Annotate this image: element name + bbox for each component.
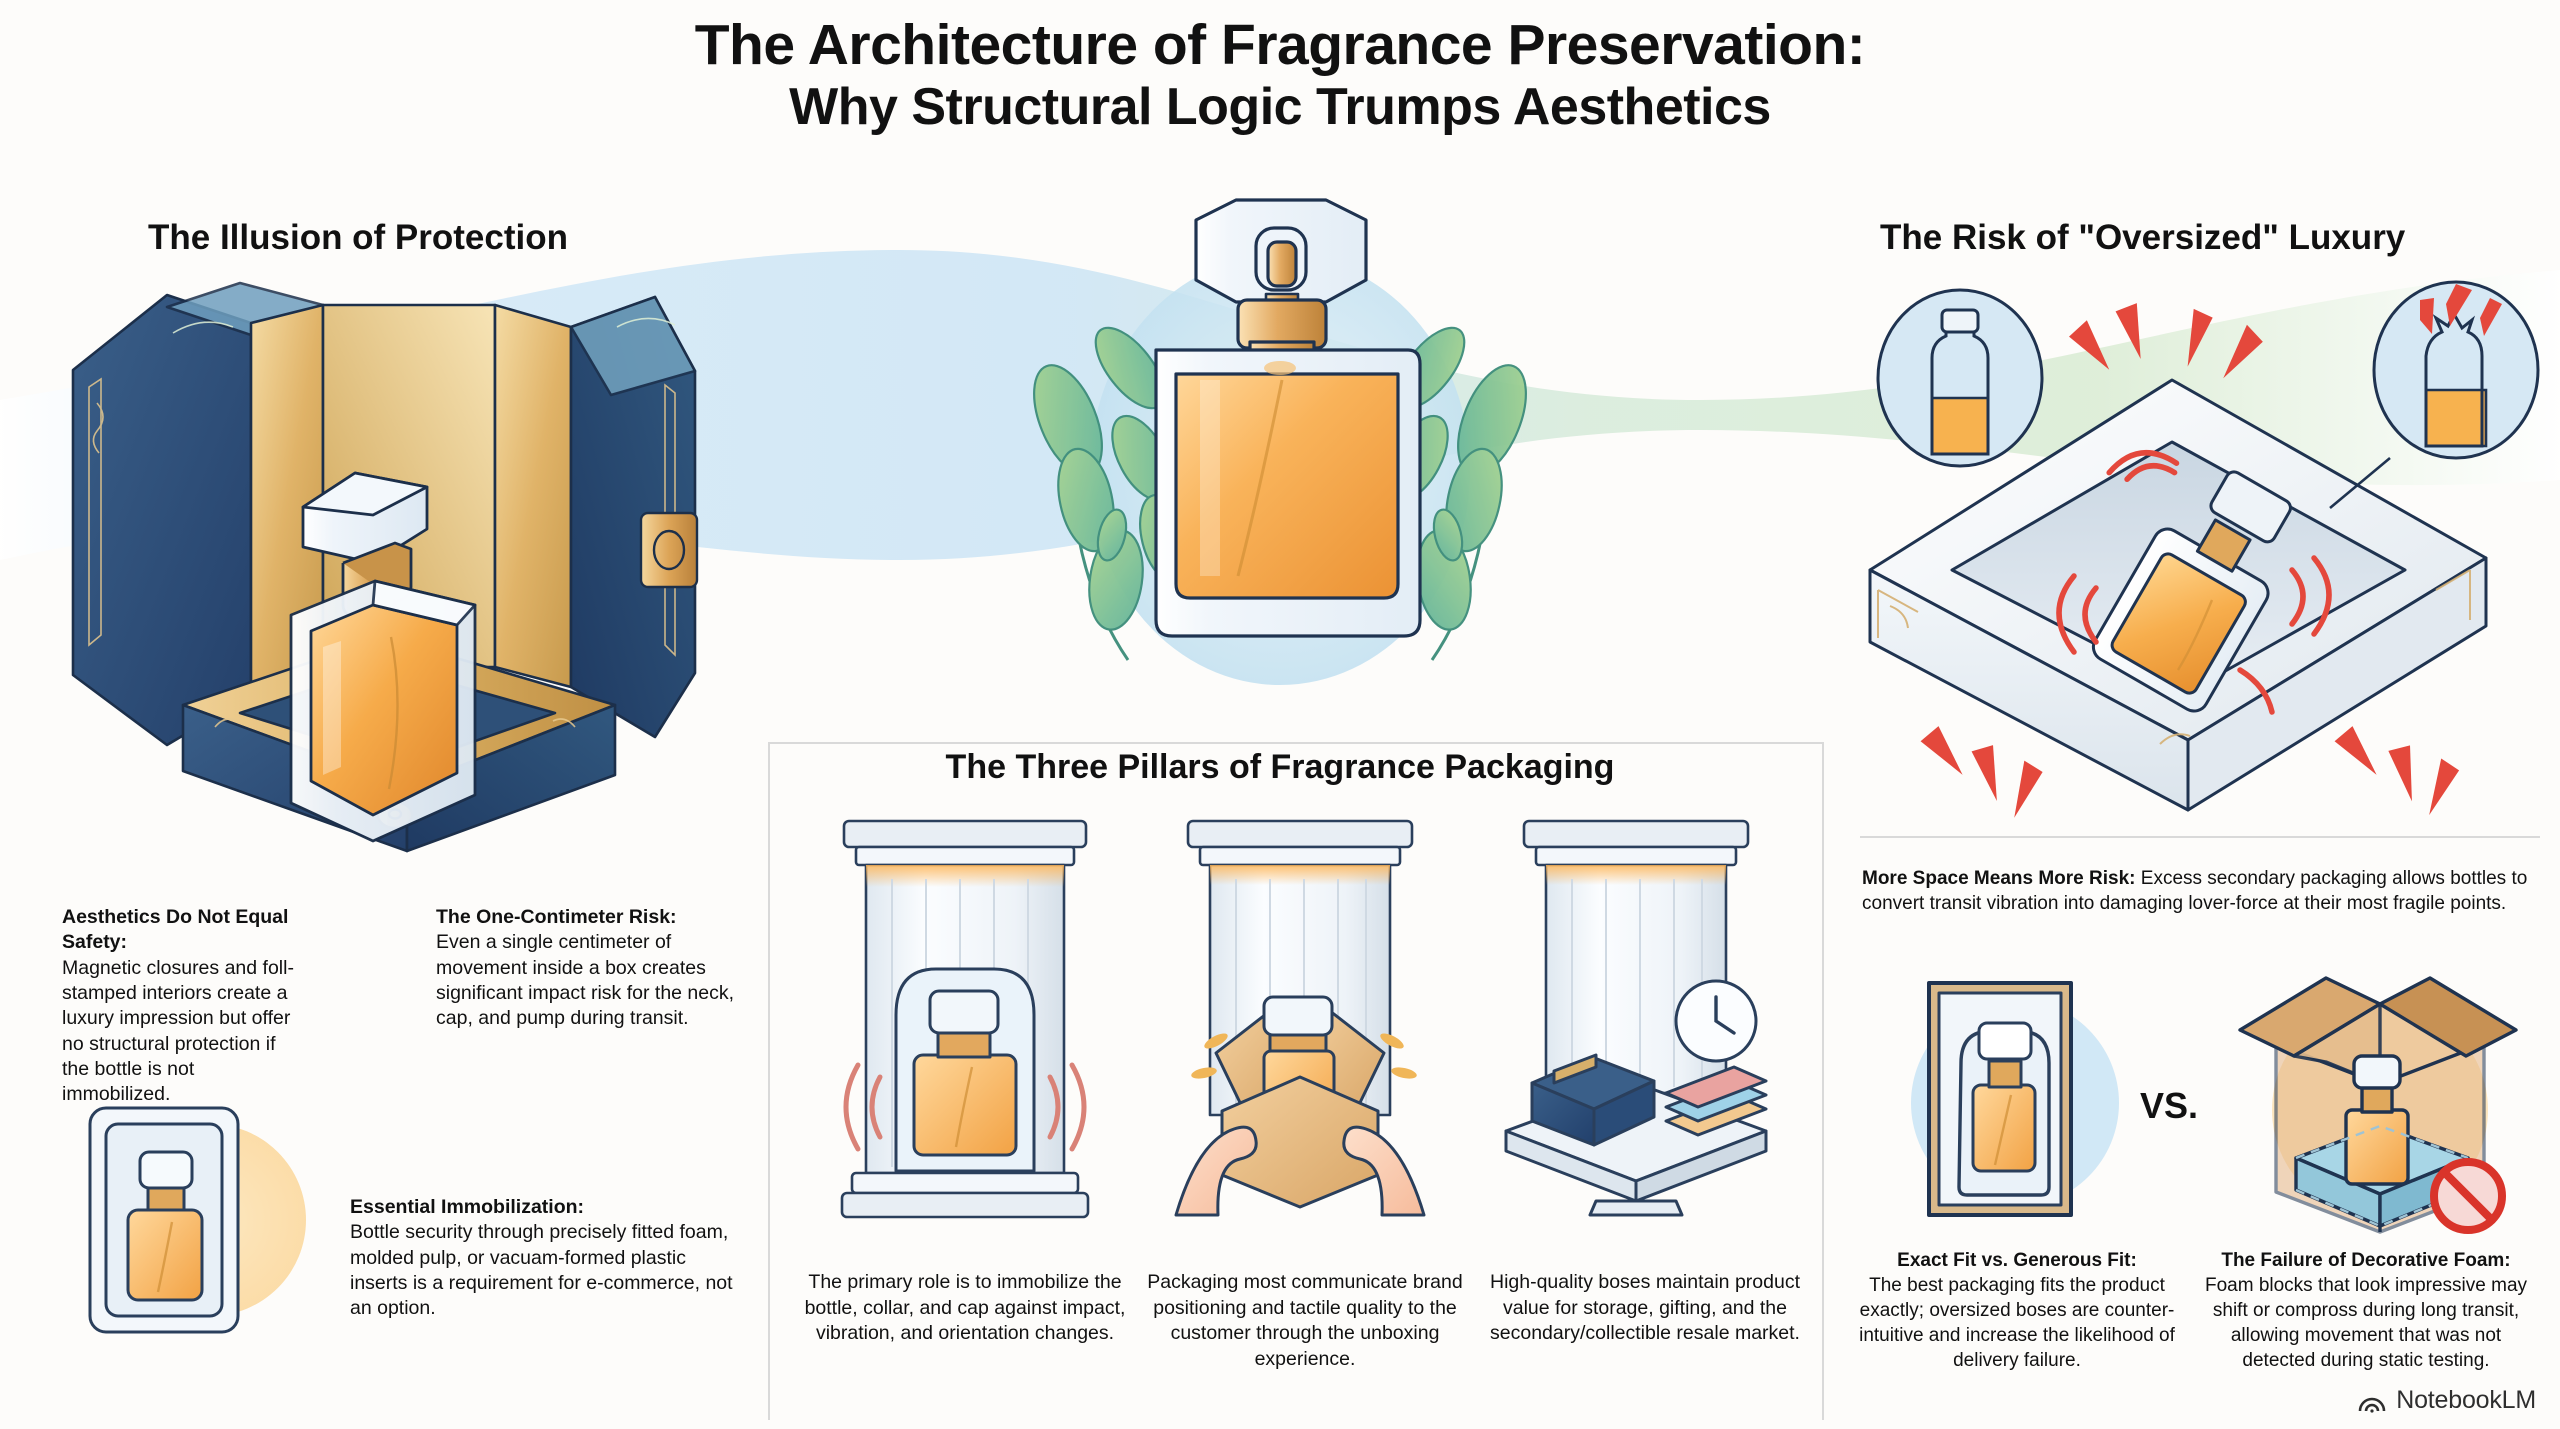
divider-center-left — [768, 742, 770, 1420]
title-line-2: Why Structural Logic Trumps Aesthetics — [0, 78, 2560, 136]
right-compare1-body: The best packaging fits the product exac… — [1852, 1273, 2182, 1373]
left-block1-body: Magnetic closures and foll-stamped inter… — [62, 956, 297, 1108]
notebooklm-watermark: NotebookLM — [2357, 1386, 2536, 1415]
divider-center-right — [1822, 742, 1824, 1420]
illustration-oversized-carton-foam — [2230, 960, 2520, 1240]
divider-pillars-top — [768, 742, 1824, 744]
vs-label: VS. — [2140, 1085, 2198, 1127]
illustration-pillar-unboxing — [1160, 815, 1440, 1235]
illustration-exact-fit — [1895, 965, 2135, 1235]
right-compare-block-decorative-foam: The Failure of Decorative Foam: Foam blo… — [2196, 1248, 2536, 1373]
pillars-section-heading: The Three Pillars of Fragrance Packaging — [0, 748, 2560, 787]
title-line-1: The Architecture of Fragrance Preservati… — [0, 14, 2560, 78]
right-compare-block-exact-fit: Exact Fit vs. Generous Fit: The best pac… — [1852, 1248, 2182, 1373]
right-compare2-body: Foam blocks that look impressive may shi… — [2196, 1273, 2536, 1373]
left-block2-body: Even a single centimeter of movement ins… — [436, 930, 741, 1031]
pillar-caption-3: High-quality boses maintain product valu… — [1470, 1270, 1820, 1347]
left-block3-heading: Essential Immobilization: — [350, 1195, 742, 1220]
illustration-pillar-immobilize — [830, 815, 1100, 1235]
notebooklm-label: NotebookLM — [2396, 1386, 2536, 1415]
left-block3-body: Bottle security through precisely fitted… — [350, 1220, 742, 1321]
illustration-hero-bottle-laurel — [880, 190, 1680, 750]
right-compare2-heading: The Failure of Decorative Foam: — [2196, 1248, 2536, 1273]
left-text-block-one-centimeter: The One-Contimeter Risk: Even a single c… — [436, 905, 741, 1032]
left-section-heading: The Illusion of Protection — [148, 218, 568, 258]
right-lead-text-block: More Space Means More Risk: Excess secon… — [1862, 866, 2534, 917]
divider-right-lead — [1860, 836, 2540, 838]
right-compare1-heading: Exact Fit vs. Generous Fit: — [1852, 1248, 2182, 1273]
left-text-block-immobilization: Essential Immobilization: Bottle securit… — [350, 1195, 742, 1322]
left-text-block-aesthetics: Aesthetics Do Not Equal Safety: Magnetic… — [62, 905, 297, 1108]
page-title: The Architecture of Fragrance Preservati… — [0, 14, 2560, 136]
notebooklm-logo-icon — [2357, 1388, 2387, 1414]
illustration-immobilized-insert — [60, 1090, 320, 1350]
left-block1-heading: Aesthetics Do Not Equal Safety: — [62, 905, 297, 956]
right-section-heading: The Risk of "Oversized" Luxury — [1880, 218, 2405, 258]
left-block2-heading: The One-Contimeter Risk: — [436, 905, 741, 930]
pillar-caption-2: Packaging most communicate brand positio… — [1130, 1270, 1480, 1373]
illustration-pillar-value-retention — [1490, 815, 1780, 1235]
pillar-caption-1: The primary role is to immobilize the bo… — [790, 1270, 1140, 1347]
right-lead-heading: More Space Means More Risk: — [1862, 868, 2135, 889]
